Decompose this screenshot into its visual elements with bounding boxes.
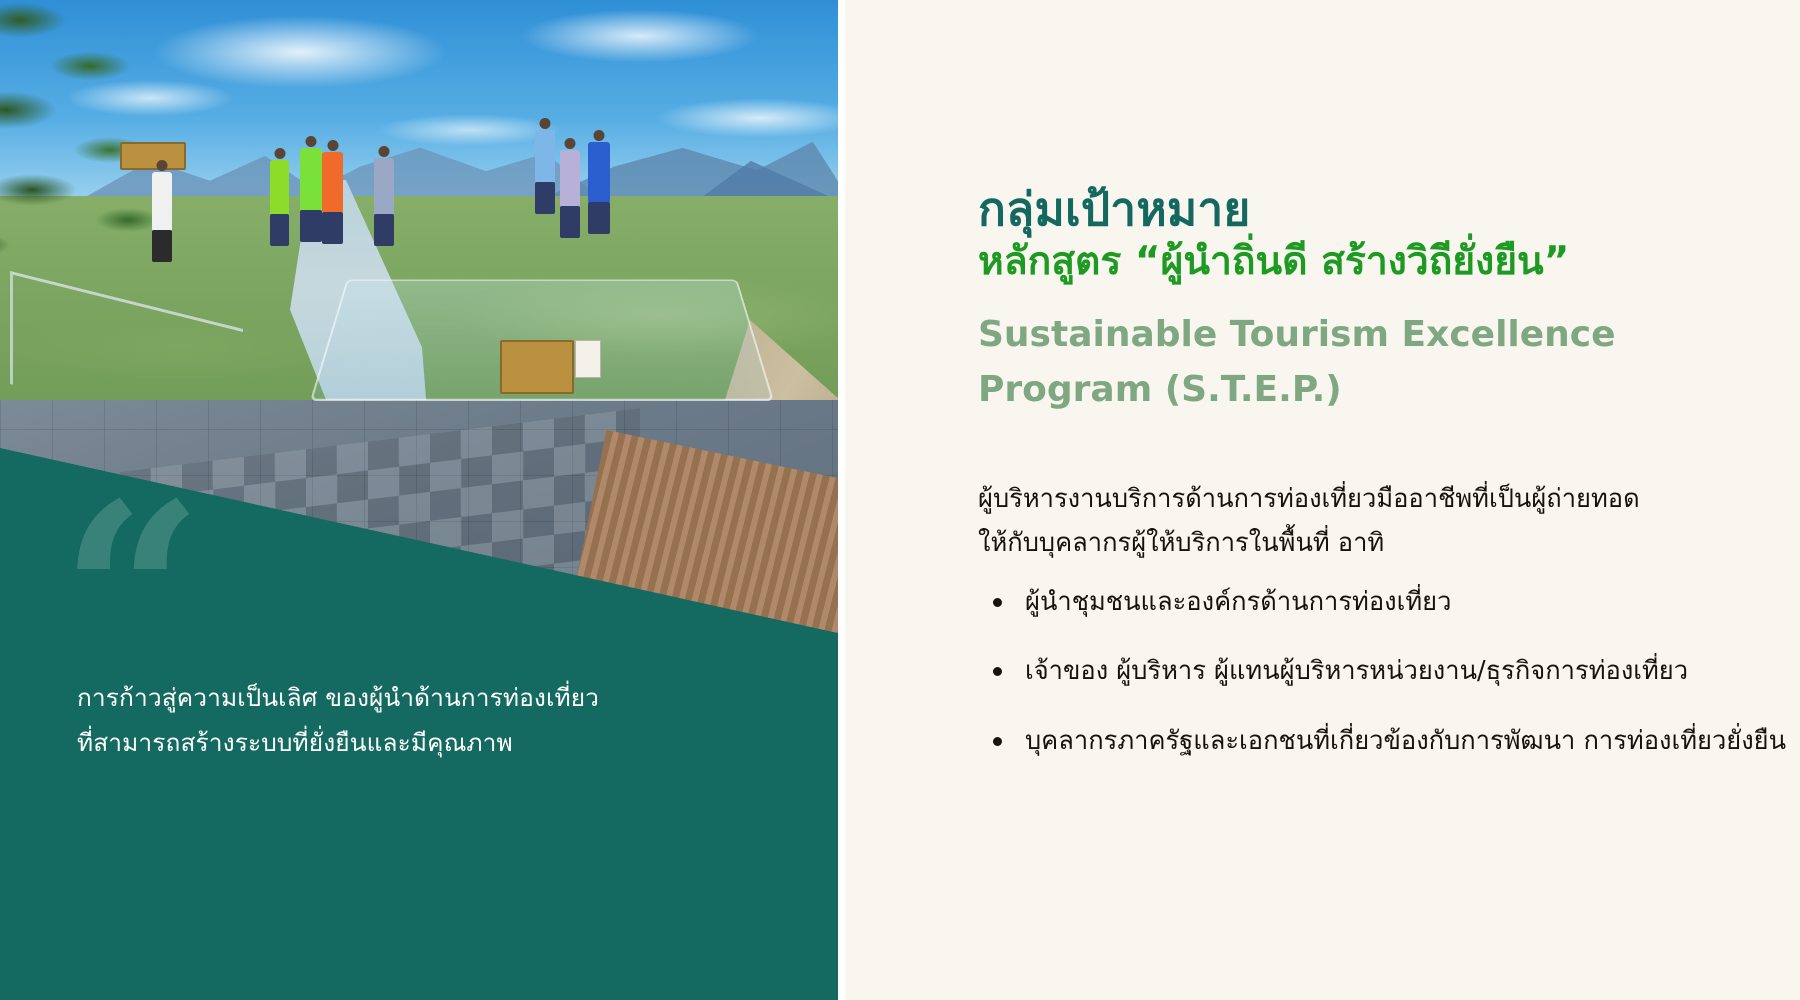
presentation-slide: “ การก้าวสู่ความเป็นเลิศ ของผู้นำด้านการ…: [0, 0, 1800, 1000]
visitor-head: [379, 146, 390, 157]
tree-foliage: [0, 0, 210, 280]
bullet-dot-icon: [993, 737, 1002, 746]
left-teal-panel: “ การก้าวสู่ความเป็นเลิศ ของผู้นำด้านการ…: [0, 0, 838, 1000]
list-item-label: เจ้าของ ผู้บริหาร ผู้แทนผู้บริหารหน่วยงา…: [1025, 651, 1800, 692]
visitor-legs: [374, 214, 394, 246]
visitor-head: [274, 148, 285, 159]
visitor-legs: [322, 212, 343, 244]
intro-line: ให้กับบุคลากรผู้ให้บริการในพื้นที่ อาทิ: [978, 521, 1778, 565]
intro-line: ผู้บริหารงานบริการด้านการท่องเที่ยวมืออา…: [978, 477, 1778, 521]
visitor-figure: [300, 148, 322, 212]
bullet-dot-icon: [993, 598, 1002, 607]
bullet-dot-icon: [993, 667, 1002, 676]
visitor-head: [540, 118, 551, 129]
visitor-head: [306, 136, 317, 147]
visitor-legs: [560, 206, 580, 238]
list-item-label: ผู้นำชุมชนและองค์กรด้านการท่องเที่ยว: [1025, 582, 1800, 623]
quote-text: การก้าวสู่ความเป็นเลิศ ของผู้นำด้านการท่…: [77, 676, 677, 765]
target-group-list: ผู้นำชุมชนและองค์กรด้านการท่องเที่ยว เจ้…: [978, 582, 1800, 790]
list-item-label: บุคลากรภาครัฐและเอกชนที่เกี่ยวข้องกับการ…: [1025, 721, 1800, 762]
quote-line: ที่สามารถสร้างระบบที่ยั่งยืนและมีคุณภาพ: [77, 721, 677, 766]
list-item: เจ้าของ ผู้บริหาร ผู้แทนผู้บริหารหน่วยงา…: [1025, 651, 1800, 692]
visitor-figure: [152, 172, 172, 232]
list-item: บุคลากรภาครัฐและเอกชนที่เกี่ยวข้องกับการ…: [1025, 721, 1800, 762]
right-content-panel: กลุ่มเป้าหมาย หลักสูตร “ผู้นำถิ่นดี สร้า…: [845, 0, 1800, 1000]
visitor-figure: [588, 142, 610, 204]
visitor-figure: [374, 158, 394, 216]
course-title-thai: หลักสูตร “ผู้นำถิ่นดี สร้างวิถียั่งยืน”: [978, 238, 1569, 287]
visitor-head: [594, 130, 605, 141]
intro-paragraph: ผู้บริหารงานบริการด้านการท่องเที่ยวมืออา…: [978, 477, 1778, 566]
list-item: ผู้นำชุมชนและองค์กรด้านการท่องเที่ยว: [1025, 582, 1800, 623]
right-content-inner: กลุ่มเป้าหมาย หลักสูตร “ผู้นำถิ่นดี สร้า…: [978, 0, 1800, 1000]
visitor-head: [565, 138, 576, 149]
visitor-legs: [535, 182, 555, 214]
visitor-head: [157, 160, 168, 171]
wooden-sign-top: [120, 142, 186, 170]
visitor-legs: [152, 230, 172, 262]
white-notice-sign: [575, 340, 601, 378]
quote-line: การก้าวสู่ความเป็นเลิศ ของผู้นำด้านการท่…: [77, 676, 677, 721]
visitor-figure: [322, 152, 343, 214]
visitor-figure: [560, 150, 580, 208]
visitor-head: [327, 140, 338, 151]
course-title-english: Sustainable Tourism Excellence Program (…: [978, 308, 1718, 417]
wooden-sign-center: [500, 340, 574, 394]
page-title: กลุ่มเป้าหมาย: [978, 181, 1251, 239]
visitor-legs: [270, 214, 289, 246]
visitor-figure: [535, 130, 555, 184]
visitor-figure: [270, 160, 289, 216]
visitor-legs: [300, 210, 322, 242]
visitor-legs: [588, 202, 610, 234]
